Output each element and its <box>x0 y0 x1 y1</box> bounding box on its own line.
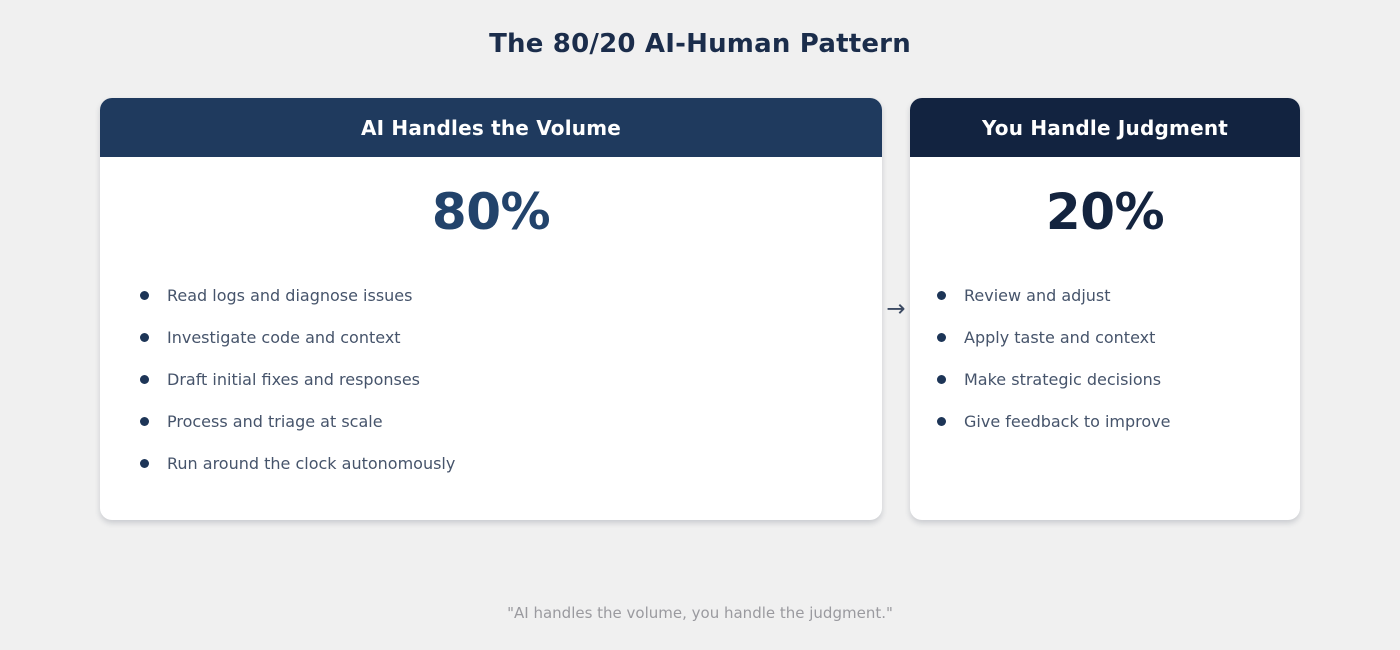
list-item-label: Process and triage at scale <box>167 412 383 431</box>
page-title: The 80/20 AI-Human Pattern <box>0 29 1400 59</box>
list-item: Review and adjust <box>937 274 1300 316</box>
list-item-label: Investigate code and context <box>167 328 401 347</box>
card-you-judgment: You Handle Judgment 20% Review and adjus… <box>910 98 1300 520</box>
list-item-label: Review and adjust <box>964 286 1111 305</box>
list-item: Process and triage at scale <box>140 400 882 442</box>
list-item: Draft initial fixes and responses <box>140 358 882 400</box>
bullet-dot-icon <box>140 291 149 300</box>
list-item: Apply taste and context <box>937 316 1300 358</box>
list-item-label: Read logs and diagnose issues <box>167 286 412 305</box>
list-item-label: Draft initial fixes and responses <box>167 370 420 389</box>
bullet-dot-icon <box>140 333 149 342</box>
list-item-label: Give feedback to improve <box>964 412 1171 431</box>
infographic-canvas: The 80/20 AI-Human Pattern AI Handles th… <box>0 0 1400 650</box>
list-item: Investigate code and context <box>140 316 882 358</box>
list-item: Make strategic decisions <box>937 358 1300 400</box>
bullet-dot-icon <box>937 333 946 342</box>
list-item-label: Run around the clock autonomously <box>167 454 455 473</box>
card-ai-volume: AI Handles the Volume 80% Read logs and … <box>100 98 882 520</box>
capability-list-ai-volume: Read logs and diagnose issues Investigat… <box>100 274 882 484</box>
flow-arrow-icon: → <box>882 296 910 322</box>
bullet-dot-icon <box>140 375 149 384</box>
list-item: Give feedback to improve <box>937 400 1300 442</box>
percent-value-ai-volume: 80% <box>100 187 882 237</box>
bullet-dot-icon <box>937 417 946 426</box>
card-body-you-judgment: 20% Review and adjust Apply taste and co… <box>910 187 1300 442</box>
card-header-ai-volume: AI Handles the Volume <box>100 98 882 157</box>
list-item: Run around the clock autonomously <box>140 442 882 484</box>
bullet-dot-icon <box>937 375 946 384</box>
list-item-label: Make strategic decisions <box>964 370 1161 389</box>
card-body-ai-volume: 80% Read logs and diagnose issues Invest… <box>100 187 882 484</box>
bullet-dot-icon <box>140 459 149 468</box>
percent-value-you-judgment: 20% <box>910 187 1300 237</box>
bullet-dot-icon <box>937 291 946 300</box>
list-item: Read logs and diagnose issues <box>140 274 882 316</box>
footer-caption: "AI handles the volume, you handle the j… <box>0 604 1400 622</box>
capability-list-you-judgment: Review and adjust Apply taste and contex… <box>910 274 1300 442</box>
list-item-label: Apply taste and context <box>964 328 1155 347</box>
card-header-you-judgment: You Handle Judgment <box>910 98 1300 157</box>
bullet-dot-icon <box>140 417 149 426</box>
